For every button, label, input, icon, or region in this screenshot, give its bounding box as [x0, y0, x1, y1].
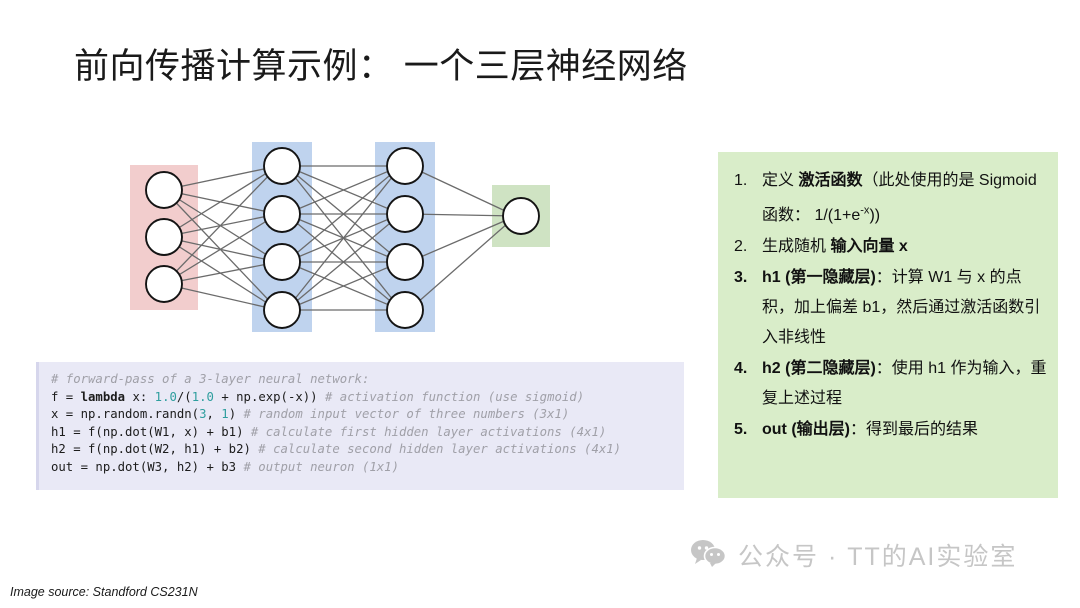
node-input-1 [146, 172, 182, 208]
code-snippet-block: # forward-pass of a 3-layer neural netwo… [36, 362, 684, 490]
explanation-step-1: 1.定义 激活函数（此处使用的是 Sigmoid 函数： 1/(1+e-x)) [732, 166, 1048, 231]
node-output-1 [503, 198, 539, 234]
step-marker: 5. [734, 415, 747, 445]
watermark: 公众号 · TT的AI实验室 [690, 537, 1017, 573]
node-hidden2-2 [387, 196, 423, 232]
step-text: out (输出层)：得到最后的结果 [762, 421, 978, 438]
step-text: 生成随机 输入向量 x [762, 238, 908, 255]
line-comment-header: # forward-pass of a 3-layer neural netwo… [51, 371, 674, 389]
step-marker: 3. [734, 263, 747, 293]
step-text: 定义 激活函数（此处使用的是 Sigmoid 函数： 1/(1+e-x)) [762, 172, 1037, 224]
explanation-step-2: 2.生成随机 输入向量 x [732, 232, 1048, 262]
explanation-panel: 1.定义 激活函数（此处使用的是 Sigmoid 函数： 1/(1+e-x))2… [718, 152, 1058, 498]
node-hidden2-4 [387, 292, 423, 328]
node-hidden1-4 [264, 292, 300, 328]
explanation-step-5: 5.out (输出层)：得到最后的结果 [732, 415, 1048, 445]
node-hidden1-1 [264, 148, 300, 184]
line-h1: h1 = f(np.dot(W1, x) + b1) # calculate f… [51, 424, 674, 442]
step-marker: 1. [734, 166, 747, 196]
explanation-step-list: 1.定义 激活函数（此处使用的是 Sigmoid 函数： 1/(1+e-x))2… [732, 166, 1048, 445]
node-hidden1-3 [264, 244, 300, 280]
line-h2: h2 = f(np.dot(W2, h1) + b2) # calculate … [51, 441, 674, 459]
step-marker: 4. [734, 354, 747, 384]
network-edges [164, 166, 516, 310]
page-title: 前向传播计算示例： 一个三层神经网络 [74, 38, 688, 89]
node-hidden1-2 [264, 196, 300, 232]
line-x-randn: x = np.random.randn(3, 1) # random input… [51, 406, 674, 424]
explanation-step-3: 3.h1 (第一隐藏层)：计算 W1 与 x 的点积，加上偏差 b1，然后通过激… [732, 263, 1048, 353]
slide-canvas: 前向传播计算示例： 一个三层神经网络 [0, 0, 1080, 608]
step-text: h1 (第一隐藏层)：计算 W1 与 x 的点积，加上偏差 b1，然后通过激活函… [762, 269, 1040, 346]
node-input-3 [146, 266, 182, 302]
explanation-step-4: 4.h2 (第二隐藏层)：使用 h1 作为输入，重复上述过程 [732, 354, 1048, 414]
image-source-note: Image source: Standford CS231N [10, 585, 198, 599]
step-marker: 2. [734, 232, 747, 262]
wechat-icon [690, 538, 726, 573]
watermark-text: 公众号 · TT的AI实验室 [738, 537, 1017, 573]
step-text: h2 (第二隐藏层)：使用 h1 作为输入，重复上述过程 [762, 360, 1046, 407]
line-f-lambda: f = lambda x: 1.0/(1.0 + np.exp(-x)) # a… [51, 389, 674, 407]
node-hidden2-1 [387, 148, 423, 184]
neural-network-diagram: input layer hidden layer 1 hidden layer … [110, 130, 610, 345]
node-input-2 [146, 219, 182, 255]
line-out: out = np.dot(W3, h2) + b3 # output neuro… [51, 459, 674, 477]
node-hidden2-3 [387, 244, 423, 280]
